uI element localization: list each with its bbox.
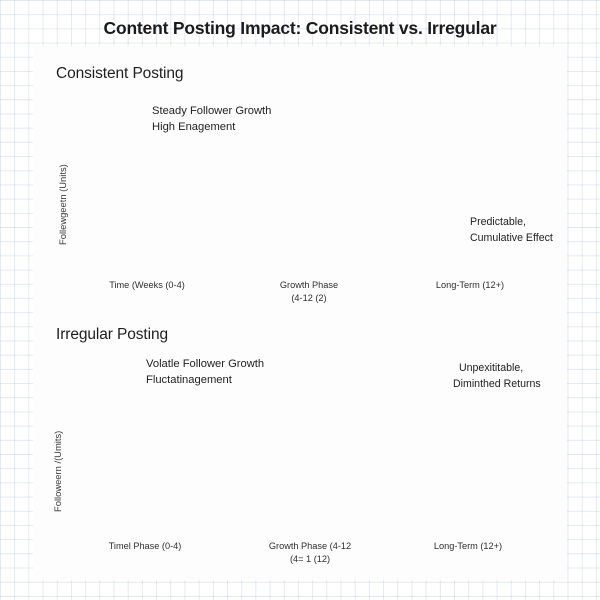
y-axis-label-irregular: Followeern /(Umits)	[52, 431, 63, 512]
x-tick-consistent-1-line1: Growth Phase	[244, 279, 374, 292]
legend-label-irregular-line2: Fluctatinagement	[146, 373, 232, 389]
x-tick-consistent-0-line1: Time (Weeks (0-4)	[82, 279, 212, 292]
x-tick-irregular-1-line2: (4= 1 (12)	[240, 553, 380, 566]
panel-heading-consistent: Consistent Posting	[56, 65, 183, 83]
x-tick-consistent-2: Long-Term (12+)	[400, 279, 540, 292]
x-tick-consistent-1-line2: (4-12 (2)	[244, 292, 374, 305]
page-title: Content Posting Impact: Consistent vs. I…	[0, 18, 600, 39]
x-tick-consistent-1: Growth Phase (4-12 (2)	[244, 279, 374, 304]
legend-label-consistent-line1: Steady Follower Growth	[152, 104, 271, 120]
x-tick-irregular-2-line1: Long-Term (12+)	[398, 540, 538, 553]
legend-label-consistent-line2: High Enagement	[152, 120, 235, 136]
x-tick-irregular-1-line1: Growth Phase (4-12	[240, 540, 380, 553]
annotation-irregular-line1: Unpexititable,	[459, 361, 523, 376]
x-tick-consistent-2-line1: Long-Term (12+)	[400, 279, 540, 292]
x-tick-consistent-0: Time (Weeks (0-4)	[82, 279, 212, 292]
x-tick-irregular-2: Long-Term (12+)	[398, 540, 538, 553]
panel-heading-irregular: Irregular Posting	[56, 326, 168, 344]
y-axis-label-consistent: Follewgeetn (Units)	[57, 164, 68, 245]
legend-label-irregular-line1: Volatle Follower Growth	[146, 357, 264, 373]
annotation-consistent-line2: Cumulative Effect	[470, 231, 553, 246]
x-tick-irregular-1: Growth Phase (4-12 (4= 1 (12)	[240, 540, 380, 565]
content-card	[33, 46, 567, 580]
x-tick-irregular-0-line1: Timel Phase (0-4)	[80, 540, 210, 553]
x-tick-irregular-0: Timel Phase (0-4)	[80, 540, 210, 553]
annotation-consistent-line1: Predictable,	[470, 215, 526, 230]
annotation-irregular-line2: Diminthed Returns	[453, 377, 541, 392]
